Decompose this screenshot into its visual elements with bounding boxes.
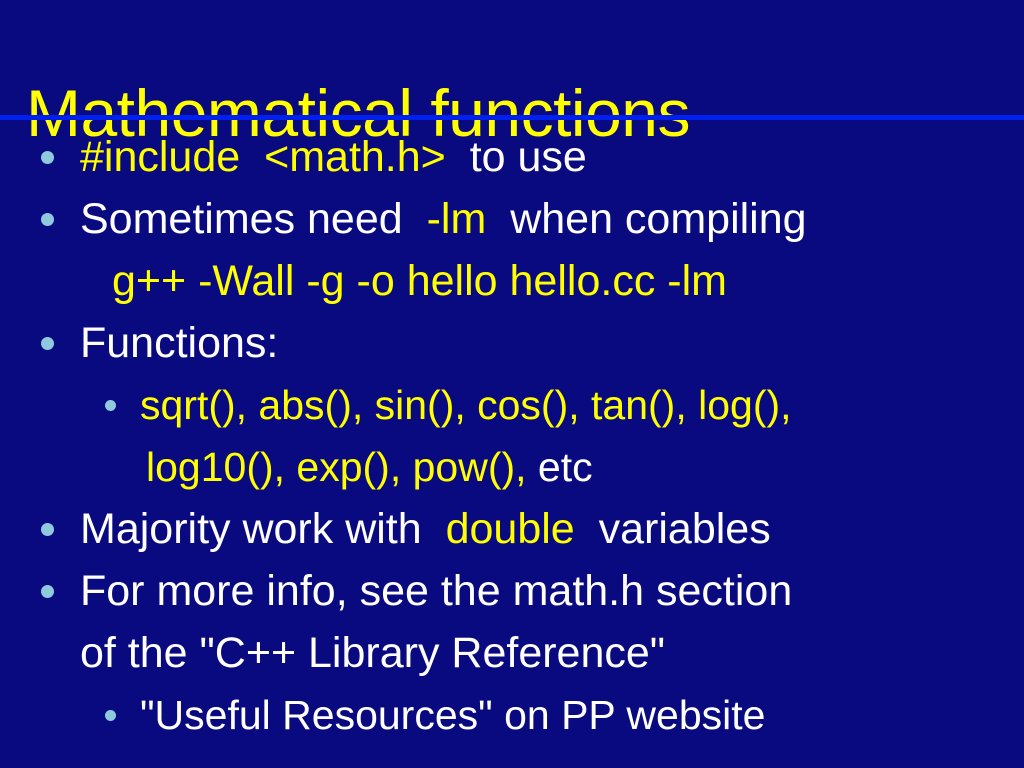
code-text: double xyxy=(446,505,575,553)
bullet-item-level1: Sometimes need -lm when compiling xyxy=(0,188,1024,250)
code-text: sqrt(), abs(), sin(), cos(), tan(), log(… xyxy=(140,382,792,428)
bullet-dot-icon xyxy=(41,523,54,536)
bullet-continuation-line: log10(), exp(), pow(), etc xyxy=(0,436,1024,498)
code-text: log10(), exp(), pow(), xyxy=(146,444,527,490)
bullet-item-level1: For more info, see the math.h section xyxy=(0,560,1024,622)
presentation-slide: Mathematical functions #include <math.h>… xyxy=(0,0,1024,768)
bullet-item-level1: #include <math.h> to use xyxy=(0,126,1024,188)
body-text xyxy=(527,444,538,490)
body-text: to use xyxy=(470,133,587,181)
body-text: "Useful Resources" on PP website xyxy=(140,692,765,738)
code-text: -lm xyxy=(427,195,487,243)
code-text: #include xyxy=(80,133,240,181)
body-text xyxy=(422,505,446,553)
bullet-dot-icon xyxy=(41,213,54,226)
code-text: g++ -Wall -g -o hello hello.cc -lm xyxy=(112,257,727,305)
body-text xyxy=(446,133,470,181)
body-text: when compiling xyxy=(510,195,806,243)
title-divider-rule xyxy=(0,115,1024,120)
code-text: <math.h> xyxy=(264,133,446,181)
bullet-dot-icon xyxy=(105,710,116,721)
bullet-dot-icon xyxy=(105,400,116,411)
body-text xyxy=(403,195,427,243)
bullet-item-level1: Functions: xyxy=(0,312,1024,374)
bullet-dot-icon xyxy=(41,151,54,164)
body-text: For more info, see the math.h section xyxy=(80,567,792,615)
bullet-item-level2: sqrt(), abs(), sin(), cos(), tan(), log(… xyxy=(0,374,1024,436)
body-text: Majority work with xyxy=(80,505,422,553)
body-text: variables xyxy=(599,505,771,553)
bullet-dot-icon xyxy=(41,337,54,350)
slide-body-bullet-list: #include <math.h> to useSometimes need -… xyxy=(0,126,1024,746)
bullet-continuation-line: g++ -Wall -g -o hello hello.cc -lm xyxy=(0,250,1024,312)
body-text: Sometimes need xyxy=(80,195,403,243)
bullet-dot-icon xyxy=(41,585,54,598)
bullet-item-level2: "Useful Resources" on PP website xyxy=(0,684,1024,746)
body-text xyxy=(240,133,264,181)
body-text: etc xyxy=(538,444,593,490)
body-text xyxy=(575,505,599,553)
bullet-continuation-line: of the "C++ Library Reference" xyxy=(0,622,1024,684)
bullet-item-level1: Majority work with double variables xyxy=(0,498,1024,560)
body-text: Functions: xyxy=(80,319,278,367)
body-text xyxy=(486,195,510,243)
body-text: of the "C++ Library Reference" xyxy=(80,629,665,677)
